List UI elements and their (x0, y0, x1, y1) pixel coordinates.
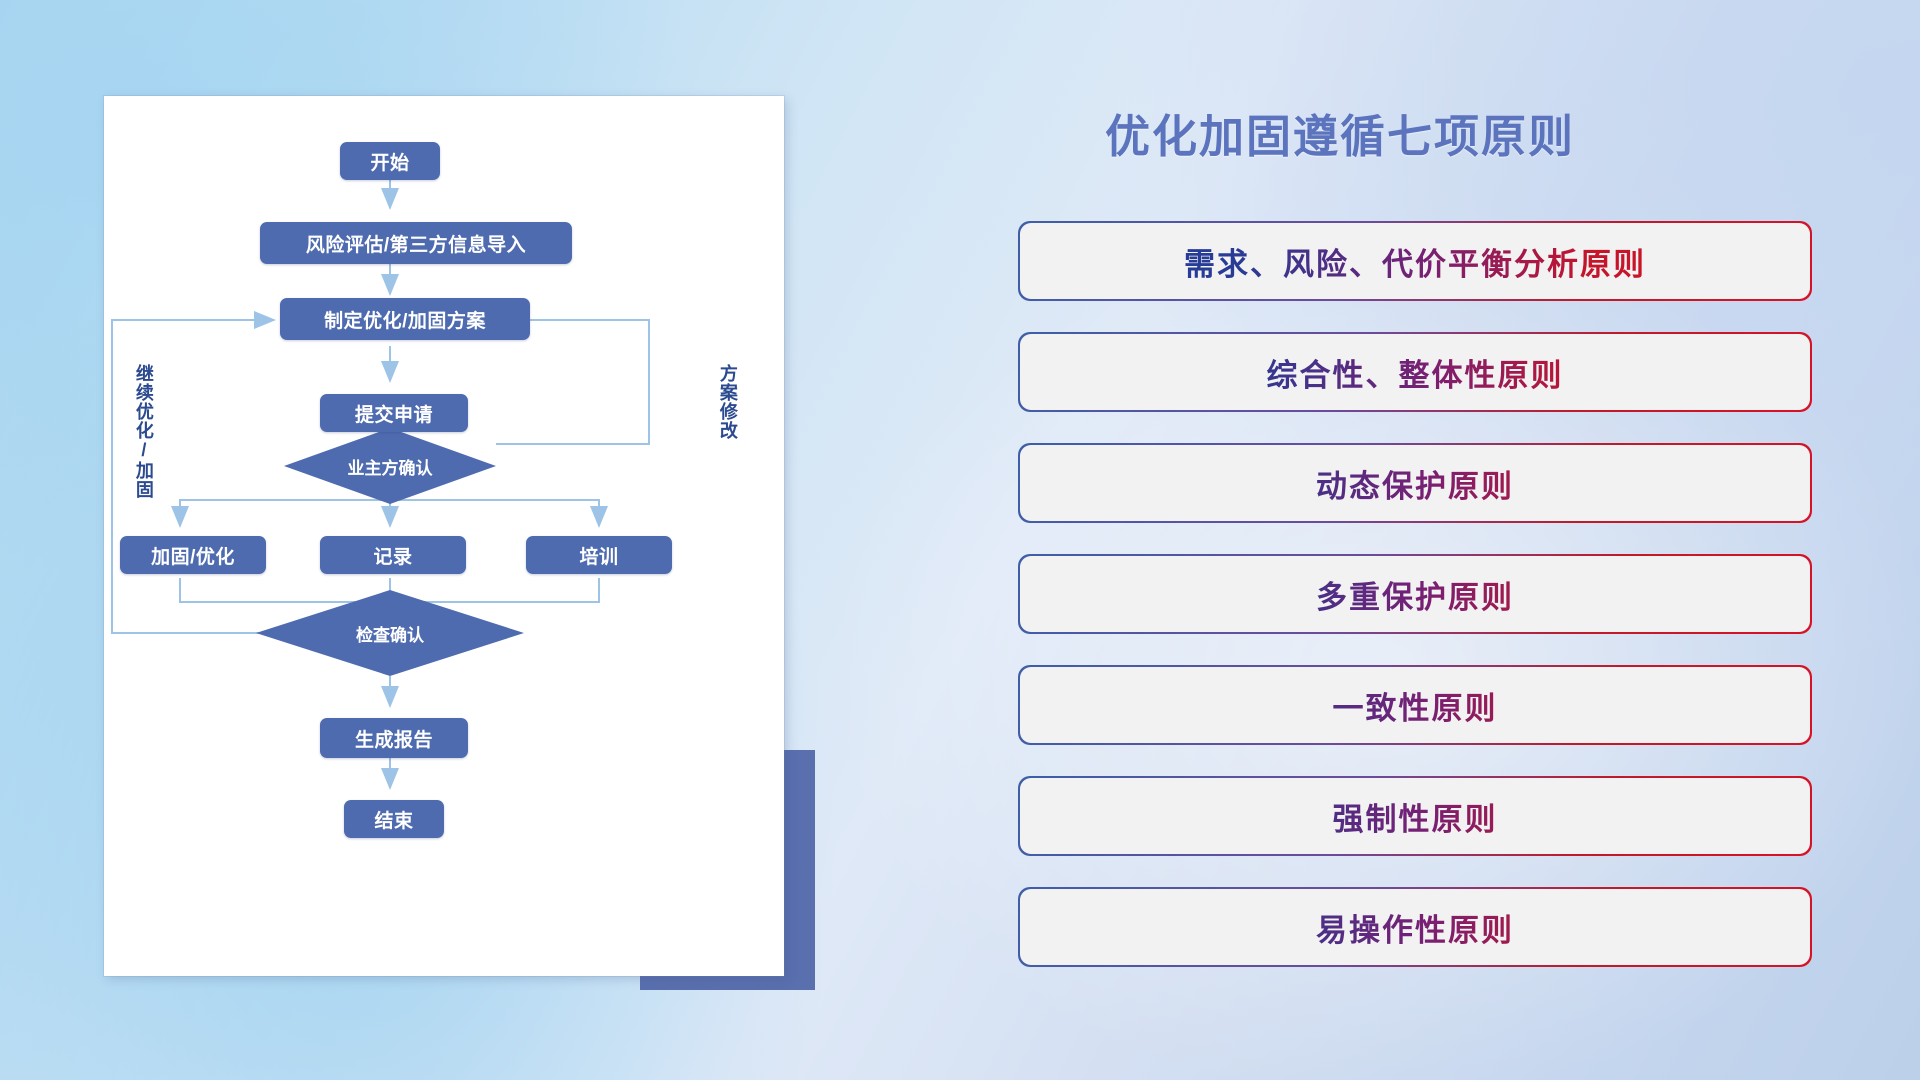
flow-node-check-confirm[interactable]: 检查确认 (256, 590, 524, 676)
flow-node-end[interactable]: 结束 (344, 800, 444, 838)
principle-card-label: 动态保护原则 (1020, 445, 1810, 521)
principles-panel: 优化加固遵循七项原则 需求、风险、代价平衡分析原则 综合性、整体性原则 动态保护… (1020, 100, 1830, 1000)
principle-card-label: 强制性原则 (1020, 778, 1810, 854)
flow-node-label: 风险评估/第三方信息导入 (306, 230, 526, 257)
principle-card[interactable]: 综合性、整体性原则 (1020, 334, 1810, 410)
flow-node-submit[interactable]: 提交申请 (320, 394, 468, 432)
flow-node-label: 结束 (374, 806, 413, 833)
flow-node-label: 检查确认 (356, 621, 424, 646)
edge-label-continue-optimize: 继续优化/加固 (134, 364, 153, 534)
principle-card-label: 综合性、整体性原则 (1020, 334, 1810, 410)
slide-canvas: 开始 风险评估/第三方信息导入 制定优化/加固方案 提交申请 业主方确认 加固/… (0, 0, 1920, 1080)
principle-card-label: 一致性原则 (1020, 667, 1810, 743)
flow-node-label: 开始 (370, 148, 409, 175)
principle-card[interactable]: 多重保护原则 (1020, 556, 1810, 632)
principle-card[interactable]: 一致性原则 (1020, 667, 1810, 743)
flow-node-start[interactable]: 开始 (340, 142, 440, 180)
edge-label-plan-revision: 方案修改 (718, 364, 737, 484)
flow-node-training[interactable]: 培训 (526, 536, 672, 574)
principle-card-label: 需求、风险、代价平衡分析原则 (1020, 223, 1810, 299)
flow-node-owner-confirm[interactable]: 业主方确认 (284, 428, 496, 504)
flow-node-label: 培训 (579, 542, 618, 569)
principle-card[interactable]: 动态保护原则 (1020, 445, 1810, 521)
flow-node-report[interactable]: 生成报告 (320, 718, 468, 758)
flow-node-label: 加固/优化 (151, 542, 235, 569)
flowchart-panel: 开始 风险评估/第三方信息导入 制定优化/加固方案 提交申请 业主方确认 加固/… (104, 96, 784, 976)
principle-card-label: 易操作性原则 (1020, 889, 1810, 965)
principle-card[interactable]: 易操作性原则 (1020, 889, 1810, 965)
flow-node-label: 制定优化/加固方案 (324, 306, 486, 333)
flow-node-label: 提交申请 (355, 400, 433, 427)
principle-card[interactable]: 需求、风险、代价平衡分析原则 (1020, 223, 1810, 299)
principle-card[interactable]: 强制性原则 (1020, 778, 1810, 854)
flow-node-label: 记录 (373, 542, 412, 569)
flow-node-label: 生成报告 (355, 725, 433, 752)
flow-node-label: 业主方确认 (348, 454, 433, 479)
flow-node-reinforce[interactable]: 加固/优化 (120, 536, 266, 574)
flow-node-risk-assessment[interactable]: 风险评估/第三方信息导入 (260, 222, 572, 264)
panel-title: 优化加固遵循七项原则 (1020, 100, 1660, 165)
principle-card-label: 多重保护原则 (1020, 556, 1810, 632)
flow-node-plan[interactable]: 制定优化/加固方案 (280, 298, 530, 340)
flow-node-record[interactable]: 记录 (320, 536, 466, 574)
